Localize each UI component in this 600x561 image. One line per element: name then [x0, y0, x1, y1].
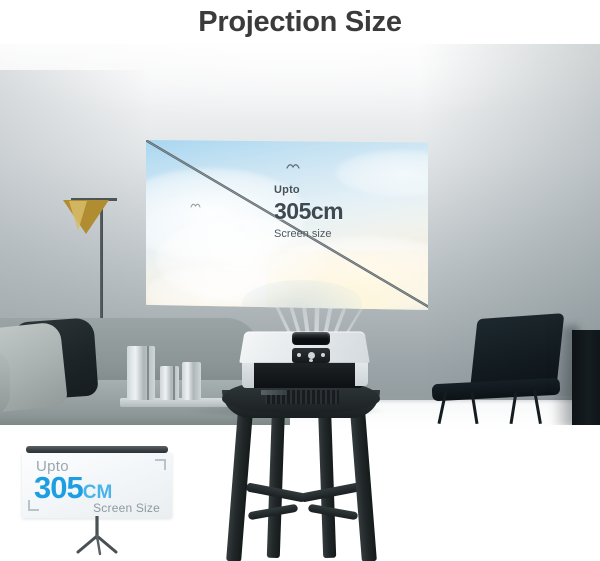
candle-icon	[127, 346, 155, 400]
stool-icon	[200, 378, 400, 561]
screen-size-value: 305cm	[274, 198, 343, 225]
badge-caption: Screen Size	[93, 501, 160, 515]
projector-control-panel[interactable]	[292, 348, 330, 363]
badge-roller-bar	[26, 446, 168, 453]
lamp-shade-highlight	[69, 201, 87, 231]
cabinet-icon	[572, 330, 600, 425]
page-header: Projection Size	[0, 0, 600, 44]
tripod-stand-icon	[22, 516, 172, 556]
badge-size-value: 305	[34, 470, 83, 505]
badge-size-unit: CM	[83, 482, 113, 503]
projector-icon	[239, 330, 370, 392]
projector-brand-badge	[261, 390, 287, 395]
bird-icon	[286, 162, 300, 170]
candle-icon	[182, 362, 201, 400]
stool-leg	[318, 408, 336, 558]
screen-upto-label: Upto	[274, 184, 343, 196]
stool-leg	[267, 408, 285, 558]
badge-screen-panel: Upto 305CM Screen Size	[22, 453, 172, 518]
projected-image: Upto 305cm Screen size	[146, 140, 428, 310]
badge-size-number: 305CM	[34, 472, 112, 503]
screen-size-badge: Upto 305CM Screen Size	[22, 446, 172, 554]
screenshot-stage: Projection Size	[0, 0, 600, 561]
candle-icon	[160, 366, 179, 400]
screen-size-text-group: Upto 305cm Screen size	[274, 184, 343, 240]
projector-lens-icon	[292, 332, 330, 345]
page-title: Projection Size	[198, 8, 401, 37]
screen-size-caption: Screen size	[274, 228, 343, 240]
corner-marker-top-right	[155, 459, 166, 470]
bird-icon	[190, 202, 201, 208]
cushion-light	[0, 321, 68, 414]
